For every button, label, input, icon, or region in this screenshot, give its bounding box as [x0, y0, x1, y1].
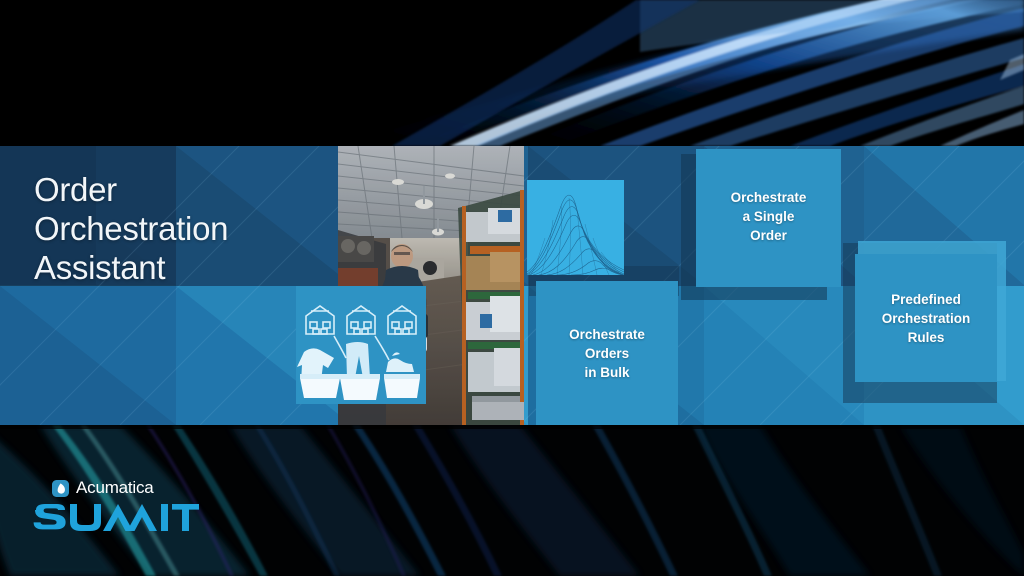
acumatica-brand-row: Acumatica: [52, 478, 200, 498]
card2-line-2: a Single: [731, 207, 807, 226]
summit-wordmark-graphic: [30, 500, 200, 542]
acumatica-wordmark: Acumatica: [76, 478, 154, 498]
page-title: Order Orchestration Assistant: [34, 170, 334, 287]
fulfillment-illustration-graphic: [296, 286, 426, 404]
data-mesh-thumbnail: [527, 180, 624, 275]
title-line-2: Orchestration: [34, 209, 334, 248]
card-predefined-orchestration-rules-label: Predefined Orchestration Rules: [882, 290, 971, 347]
light-streaks-top-graphic: [0, 0, 1024, 146]
summit-wordmark: [30, 500, 200, 547]
card3-line-2: Orchestration: [882, 309, 971, 328]
title-line-3: Assistant: [34, 248, 334, 287]
fulfillment-illustration: [296, 286, 426, 404]
card-orchestrate-a-single-order[interactable]: Orchestrate a Single Order: [696, 149, 841, 287]
title-line-1: Order: [34, 170, 334, 209]
top-light-streak-banner: [0, 0, 1024, 146]
card1-line-2: Orders: [569, 344, 645, 363]
card3-line-1: Predefined: [882, 290, 971, 309]
slide-stage: Order Orchestration Assistant: [0, 0, 1024, 576]
slide-content-band: Order Orchestration Assistant: [0, 146, 1024, 425]
card2-line-3: Order: [731, 226, 807, 245]
card1-line-1: Orchestrate: [569, 325, 645, 344]
card-orchestrate-orders-in-bulk[interactable]: Orchestrate Orders in Bulk: [536, 281, 678, 425]
card3-line-3: Rules: [882, 328, 971, 347]
acumatica-logo-mark: [52, 480, 69, 497]
acumatica-mark-icon: [52, 480, 69, 497]
card1-line-3: in Bulk: [569, 363, 645, 382]
card-orchestrate-orders-in-bulk-label: Orchestrate Orders in Bulk: [569, 325, 645, 382]
card-predefined-orchestration-rules[interactable]: Predefined Orchestration Rules: [855, 254, 997, 382]
acumatica-summit-logo: Acumatica: [30, 478, 200, 547]
card2-line-1: Orchestrate: [731, 188, 807, 207]
data-mesh-graphic: [527, 180, 624, 275]
card-orchestrate-a-single-order-label: Orchestrate a Single Order: [731, 188, 807, 245]
